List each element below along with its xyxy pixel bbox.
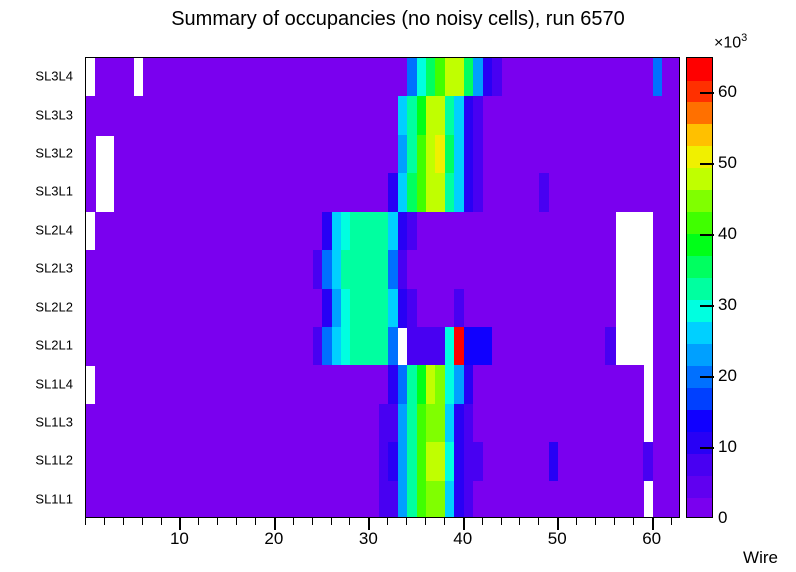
heatmap-cell	[672, 289, 680, 328]
x-axis-minor-tick	[406, 518, 407, 525]
z-exponent-base: ×10	[714, 34, 741, 51]
y-axis-tick-label: SL1L3	[35, 414, 73, 429]
x-axis-minor-tick	[633, 518, 634, 525]
x-axis-minor-tick	[519, 518, 520, 525]
x-axis-title: Wire	[743, 548, 778, 568]
palette-band	[687, 58, 712, 81]
root-canvas: Summary of occupancies (no noisy cells),…	[0, 0, 796, 572]
x-axis-minor-tick	[614, 518, 615, 525]
y-axis-tick-label: SL3L2	[35, 146, 73, 161]
y-axis-label-group: SL3L4SL3L3SL3L2SL3L1SL2L4SL2L3SL2L2SL2L1…	[0, 57, 82, 518]
x-axis-minor-tick	[123, 518, 124, 525]
x-axis-minor-tick	[217, 518, 218, 525]
palette-band	[687, 102, 712, 125]
palette-band	[687, 343, 712, 366]
y-axis-tick-label: SL2L4	[35, 222, 73, 237]
heatmap-plot-frame[interactable]	[85, 57, 680, 518]
y-axis-tick-label: SL3L4	[35, 69, 73, 84]
y-axis-tick-label: SL3L1	[35, 184, 73, 199]
z-axis-tick-mark	[700, 305, 714, 307]
z-axis-tick-label: 50	[718, 153, 737, 173]
z-axis-tick-label: 10	[718, 437, 737, 457]
x-axis-minor-tick	[444, 518, 445, 525]
heatmap-cell	[672, 212, 680, 251]
palette-band	[687, 256, 712, 279]
x-axis-minor-tick	[501, 518, 502, 525]
x-axis-tick-label: 40	[453, 529, 472, 549]
x-axis-minor-tick	[576, 518, 577, 525]
heatmap-cell	[634, 404, 644, 443]
z-exponent-power: 3	[741, 32, 747, 44]
x-axis-minor-tick	[349, 518, 350, 525]
x-axis-minor-tick	[425, 518, 426, 525]
y-axis-tick-label: SL2L2	[35, 299, 73, 314]
heatmap-cell	[86, 135, 96, 174]
x-axis-minor-tick	[387, 518, 388, 525]
page-title: Summary of occupancies (no noisy cells),…	[0, 8, 796, 31]
heatmap-cell	[605, 212, 615, 251]
z-axis-exponent: ×103	[714, 32, 747, 52]
heatmap-cell	[388, 327, 398, 366]
palette-band	[687, 453, 712, 476]
x-axis-minor-tick	[142, 518, 143, 525]
heatmap-cell-grid	[86, 58, 679, 517]
palette-band	[687, 168, 712, 191]
z-axis-tick-mark	[700, 92, 714, 94]
palette-band	[687, 321, 712, 344]
x-axis-minor-tick	[482, 518, 483, 525]
x-axis-minor-tick	[236, 518, 237, 525]
heatmap-cell	[672, 58, 680, 97]
heatmap-cell	[672, 442, 680, 481]
palette-band	[687, 278, 712, 301]
palette-band	[687, 409, 712, 432]
z-axis-tick-mark	[700, 447, 714, 449]
heatmap-cell	[672, 404, 680, 443]
y-axis-tick-label: SL2L1	[35, 338, 73, 353]
heatmap-cell	[634, 365, 644, 404]
heatmap-cell	[86, 173, 96, 212]
z-axis-tick-label: 60	[718, 82, 737, 102]
heatmap-cell	[124, 58, 134, 97]
heatmap-cell	[672, 365, 680, 404]
x-axis-minor-tick	[671, 518, 672, 525]
x-axis-minor-tick	[85, 518, 86, 525]
palette-band	[687, 124, 712, 147]
palette-band	[687, 431, 712, 454]
y-axis-tick-label: SL1L4	[35, 376, 73, 391]
palette-band	[687, 475, 712, 498]
palette-band	[687, 234, 712, 257]
x-axis-tick-label: 60	[642, 529, 661, 549]
y-axis-tick-label: SL1L2	[35, 453, 73, 468]
x-axis-minor-tick	[331, 518, 332, 525]
z-axis-tick-label: 40	[718, 224, 737, 244]
heatmap-cell	[672, 96, 680, 135]
x-axis-minor-tick	[104, 518, 105, 525]
heatmap-cell	[672, 481, 680, 518]
palette-band	[687, 212, 712, 235]
x-axis-minor-tick	[198, 518, 199, 525]
x-axis-minor-tick	[293, 518, 294, 525]
heatmap-cell	[605, 289, 615, 328]
y-axis-tick-label: SL1L1	[35, 491, 73, 506]
heatmap-cell	[672, 173, 680, 212]
palette-band	[687, 387, 712, 410]
z-axis-tick-mark	[700, 163, 714, 165]
x-axis-minor-tick	[312, 518, 313, 525]
x-axis-tick-label: 50	[548, 529, 567, 549]
x-axis-minor-tick	[255, 518, 256, 525]
y-axis-tick-label: SL2L3	[35, 261, 73, 276]
x-axis-minor-tick	[595, 518, 596, 525]
z-axis-tick-mark	[700, 376, 714, 378]
x-axis-tick-label: 20	[264, 529, 283, 549]
x-axis-minor-tick	[161, 518, 162, 525]
x-axis-tick-label: 10	[170, 529, 189, 549]
palette-band	[687, 190, 712, 213]
palette-band	[687, 80, 712, 103]
heatmap-cell	[634, 481, 644, 518]
z-axis-tick-label: 30	[718, 295, 737, 315]
heatmap-cell	[672, 327, 680, 366]
z-axis-tick-label: 0	[718, 508, 727, 528]
x-axis-minor-tick	[538, 518, 539, 525]
heatmap-cell	[605, 250, 615, 289]
y-axis-tick-label: SL3L3	[35, 107, 73, 122]
palette-band	[687, 497, 712, 518]
z-axis-tick-label: 20	[718, 366, 737, 386]
z-axis-tick-mark	[700, 234, 714, 236]
palette-band	[687, 299, 712, 322]
x-axis-tick-label: 30	[359, 529, 378, 549]
heatmap-cell	[672, 135, 680, 174]
heatmap-cell	[672, 250, 680, 289]
heatmap-cell	[605, 327, 615, 366]
